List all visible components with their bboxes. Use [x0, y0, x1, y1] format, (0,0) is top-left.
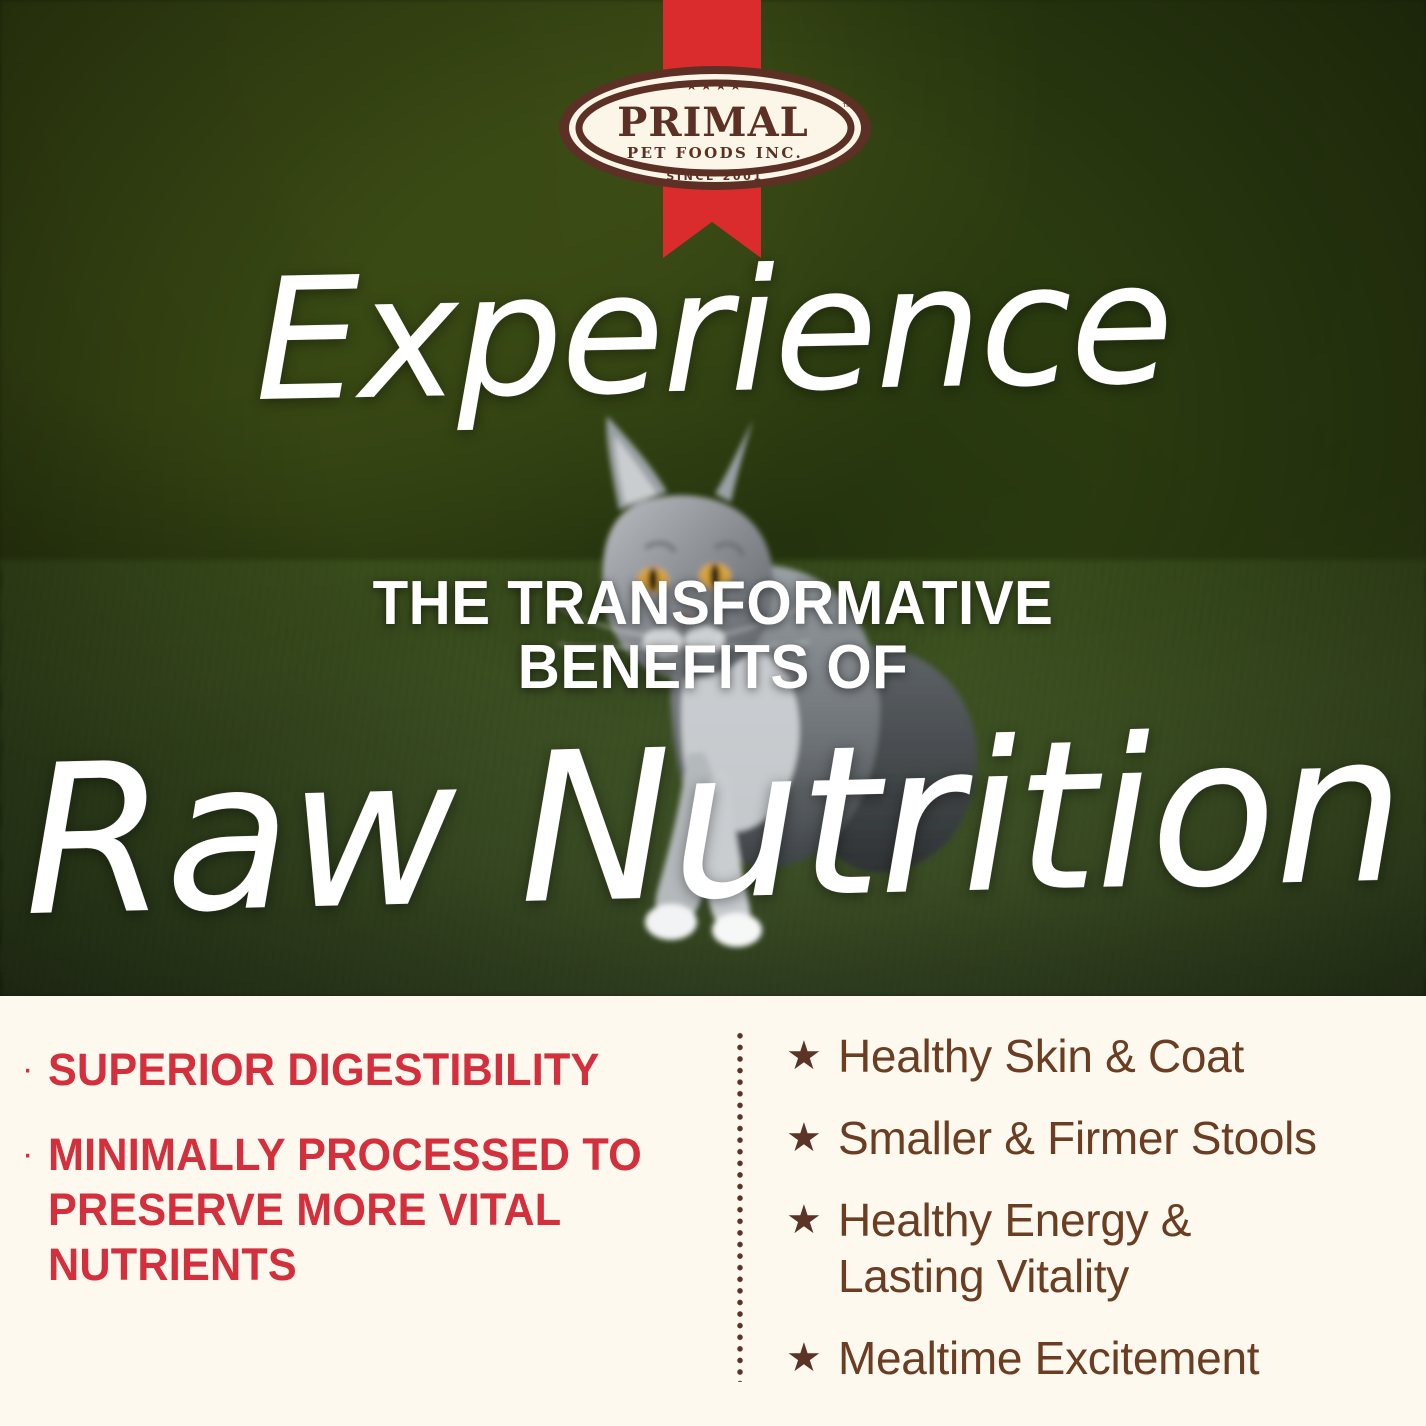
- list-item: ★ Smaller & Firmer Stools: [786, 1110, 1406, 1166]
- star-bullet-icon: ★: [786, 1330, 838, 1386]
- left-benefit-label: SUPERIOR DIGESTIBILITY: [48, 1042, 599, 1097]
- right-benefit-label: Healthy Energy & Lasting Vitality: [838, 1192, 1191, 1304]
- list-item: · MINIMALLY PROCESSED TO PRESERVE MORE V…: [22, 1127, 702, 1292]
- right-benefit-label: Smaller & Firmer Stools: [838, 1110, 1317, 1166]
- primal-raw-nutrition-poster: ★★★★ PRIMAL ™ PET FOODS INC. SINCE 2001 …: [0, 0, 1426, 1426]
- benefits-panel: · SUPERIOR DIGESTIBILITY · MINIMALLY PRO…: [0, 996, 1426, 1426]
- right-benefit-label: Healthy Skin & Coat: [838, 1028, 1244, 1084]
- svg-text:PET FOODS INC.: PET FOODS INC.: [627, 144, 803, 162]
- benefits-right-column: ★ Healthy Skin & Coat ★ Smaller & Firmer…: [786, 1028, 1406, 1412]
- star-bullet-icon: ★: [786, 1192, 838, 1248]
- star-bullet-icon: ★: [786, 1110, 838, 1166]
- list-item: ★ Mealtime Excitement: [786, 1330, 1406, 1386]
- subheadline-line-2: BENEFITS OF: [43, 636, 1383, 700]
- svg-text:★★★★: ★★★★: [686, 79, 745, 94]
- headline-raw-nutrition: Raw Nutrition: [0, 705, 1426, 946]
- svg-text:PRIMAL: PRIMAL: [617, 99, 808, 146]
- subheadline: THE TRANSFORMATIVE BENEFITS OF: [43, 572, 1383, 700]
- right-benefit-label: Mealtime Excitement: [838, 1330, 1259, 1386]
- left-benefit-label: MINIMALLY PROCESSED TO PRESERVE MORE VIT…: [48, 1127, 676, 1292]
- list-item: ★ Healthy Energy & Lasting Vitality: [786, 1192, 1406, 1304]
- list-item: ★ Healthy Skin & Coat: [786, 1028, 1406, 1084]
- benefits-left-column: · SUPERIOR DIGESTIBILITY · MINIMALLY PRO…: [22, 1042, 702, 1322]
- list-item: · SUPERIOR DIGESTIBILITY: [22, 1042, 702, 1097]
- subheadline-line-1: THE TRANSFORMATIVE: [43, 572, 1383, 636]
- primal-logo: ★★★★ PRIMAL ™ PET FOODS INC. SINCE 2001: [555, 62, 875, 194]
- svg-text:SINCE 2001: SINCE 2001: [666, 170, 763, 183]
- svg-text:™: ™: [842, 102, 852, 113]
- dot-bullet-icon: ·: [22, 1127, 48, 1181]
- star-bullet-icon: ★: [786, 1028, 838, 1084]
- dot-bullet-icon: ·: [22, 1042, 48, 1096]
- dotted-divider: [736, 1030, 744, 1382]
- headline-experience: Experience: [0, 234, 1426, 429]
